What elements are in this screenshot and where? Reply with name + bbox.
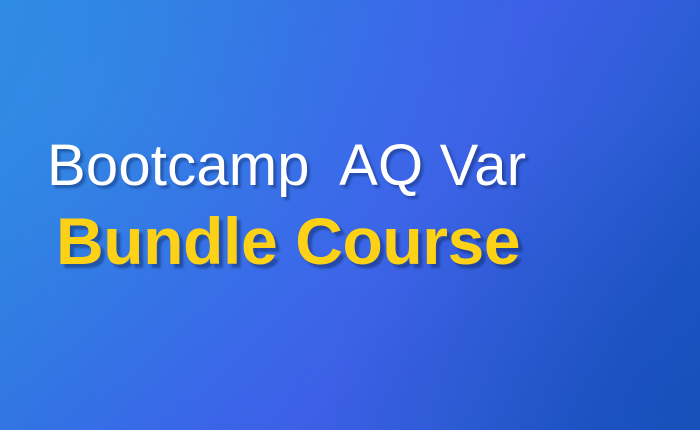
banner-headline-primary: Bootcamp AQ Var (47, 134, 526, 198)
banner-headline-accent: Bundle Course (56, 204, 526, 278)
promo-banner: Bootcamp AQ Var Bundle Course (0, 0, 700, 430)
banner-text-block: Bootcamp AQ Var Bundle Course (47, 134, 526, 278)
